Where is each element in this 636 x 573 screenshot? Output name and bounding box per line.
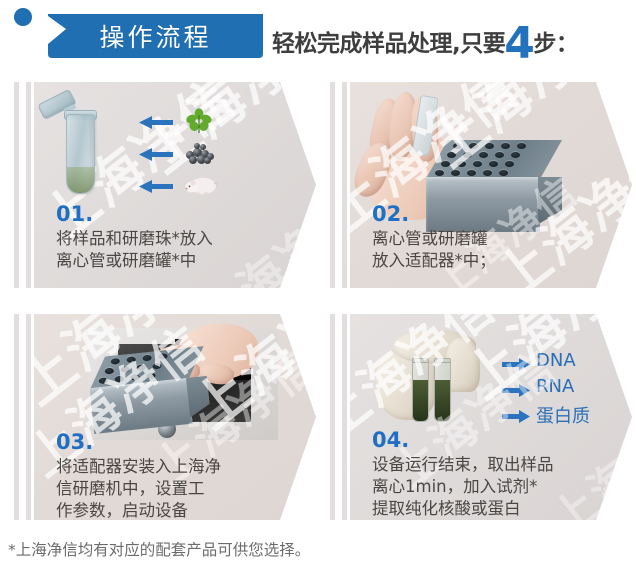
page-subtitle: 轻松完成样品处理,只要 4 步： — [272, 14, 578, 60]
step-number: 02. — [372, 204, 496, 225]
panel-stripes-03 — [0, 314, 30, 520]
panel-plate-01: 上海净信 上海净信 上海净信 — [34, 82, 316, 288]
sample-vial-icon — [412, 358, 429, 422]
stripe-inner — [26, 82, 31, 288]
panel-plate-04: DNA RNA 蛋白质 上海净信 上海净信 上海净信 上海净信 04. 设备运行… — [350, 314, 632, 520]
mouse-icon — [184, 174, 218, 196]
step-line: 信研磨机中，设置工 — [56, 478, 221, 500]
step-text-03: 03. 将适配器安装入上海净 信研磨机中，设置工 作参数，启动设备 — [56, 432, 221, 520]
watermark-text: 上海净信 — [125, 82, 316, 188]
grinding-beads-icon — [184, 142, 214, 164]
panel-plate-02: 上海净信 上海净信 上海净信 上海净信 02. 离心管或研磨罐 放入适配器*中； — [350, 82, 632, 288]
step-line: 放入适配器*中； — [372, 250, 496, 272]
subtitle-text-tail: 步： — [533, 24, 578, 60]
stripe-outer — [330, 82, 335, 288]
step-text-01: 01. 将样品和研磨珠*放入 离心管或研磨罐*中 — [56, 204, 213, 272]
arrow-right-icon — [502, 410, 530, 423]
page-header: 操作流程 轻松完成样品处理,只要 4 步： — [0, 0, 636, 72]
panel-stripes-04 — [316, 314, 346, 520]
stripe-inner — [342, 82, 347, 288]
step-line: 离心1min，加入试剂* — [372, 476, 554, 498]
step-panel-02: 上海净信 上海净信 上海净信 上海净信 02. 离心管或研磨罐 放入适配器*中； — [316, 82, 632, 288]
leaf-icon — [186, 108, 212, 134]
panel-plate-03: 上海净信 上海净信 上海净信 上海净信 03. 将适配器安装入上海净 信研磨机中… — [34, 314, 316, 520]
step-text-02: 02. 离心管或研磨罐 放入适配器*中； — [372, 204, 496, 272]
arrow-right-icon — [502, 358, 530, 371]
stripe-inner — [26, 314, 31, 520]
output-label-rna: RNA — [536, 376, 574, 397]
panel-stripes-01 — [0, 82, 30, 288]
step-line: 离心管或研磨罐*中 — [56, 250, 213, 272]
panel-stripes-02 — [316, 82, 346, 288]
sample-vial-icon — [434, 358, 451, 422]
subtitle-step-count: 4 — [504, 25, 534, 62]
step-number: 04. — [372, 430, 554, 451]
output-label-protein: 蛋白质 — [536, 402, 590, 428]
step-panel-01: 上海净信 上海净信 上海净信 — [0, 82, 316, 288]
stripe-outer — [330, 314, 335, 520]
step-number: 01. — [56, 204, 213, 225]
output-label-dna: DNA — [536, 350, 576, 371]
adapter-block-icon — [86, 346, 211, 434]
arrow-right-icon — [502, 384, 530, 397]
step-text-04: 04. 设备运行结束，取出样品 离心1min，加入试剂* 提取纯化核酸或蛋白 — [372, 430, 554, 519]
step-line: 提取纯化核酸或蛋白 — [372, 498, 554, 520]
step-line: 作参数，启动设备 — [56, 500, 221, 520]
stripe-outer — [14, 314, 19, 520]
centrifuge-tube-icon — [52, 100, 110, 196]
arrow-left-icon — [139, 147, 173, 162]
stripe-outer — [14, 82, 19, 288]
step-line: 设备运行结束，取出样品 — [372, 454, 554, 476]
arrow-left-icon — [139, 179, 173, 194]
bullet-dot-icon — [14, 8, 32, 26]
step-line: 离心管或研磨罐 — [372, 228, 496, 250]
section-banner-title: 操作流程 — [48, 14, 263, 58]
step-panel-03: 上海净信 上海净信 上海净信 上海净信 03. 将适配器安装入上海净 信研磨机中… — [0, 314, 316, 520]
subtitle-text-lead: 轻松完成样品处理,只要 — [272, 24, 505, 60]
step-panel-04: DNA RNA 蛋白质 上海净信 上海净信 上海净信 上海净信 04. 设备运行… — [316, 314, 632, 520]
step-line: 将样品和研磨珠*放入 — [56, 228, 213, 250]
arrow-left-icon — [139, 115, 173, 130]
step-number: 03. — [56, 432, 221, 453]
stripe-inner — [342, 314, 347, 520]
footer-note: *上海净信均有对应的配套产品可供您选择。 — [8, 538, 310, 560]
step-line: 将适配器安装入上海净 — [56, 456, 221, 478]
